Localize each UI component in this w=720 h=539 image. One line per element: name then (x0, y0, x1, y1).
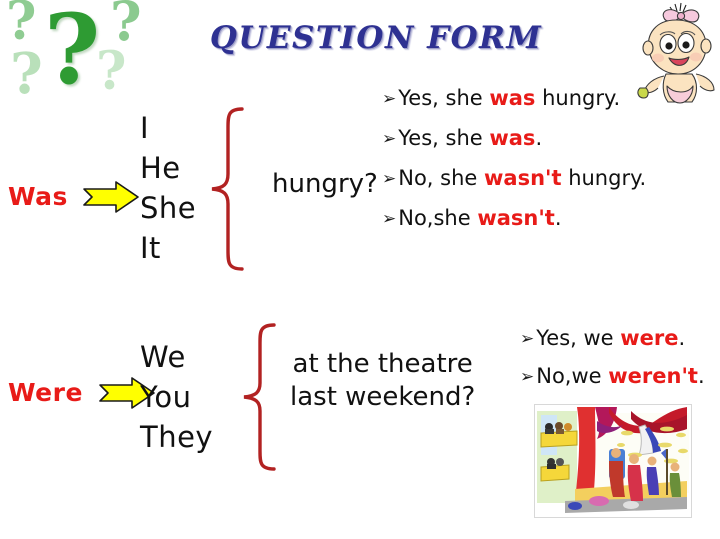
phrase-line: hungry? (272, 168, 378, 201)
question-phrase-singular: hungry? (272, 168, 378, 201)
phrase-line: last weekend? (290, 381, 475, 414)
pronoun-item: I (140, 108, 196, 148)
question-phrase-plural: at the theatre last weekend? (290, 348, 475, 413)
answer-text: No,she wasn't. (398, 206, 561, 230)
curly-brace-icon (238, 322, 284, 476)
arrow-bullet-icon: ➢ (520, 329, 534, 349)
slide-canvas: ? ? ? ? ? QUESTION FORM (0, 0, 720, 539)
curly-brace-icon (206, 106, 252, 276)
page-title: QUESTION FORM (196, 20, 556, 56)
arrow-bullet-icon: ➢ (382, 129, 396, 149)
theatre-clipart (534, 404, 692, 518)
answer-item: ➢ No,we weren't. (520, 364, 705, 388)
answer-text: No, she wasn't hungry. (398, 166, 646, 190)
arrow-bullet-icon: ➢ (382, 209, 396, 229)
answer-text: Yes, we were. (536, 326, 685, 350)
answer-text: Yes, she was. (398, 126, 542, 150)
question-marks-decoration: ? ? ? ? ? (0, 0, 190, 109)
auxiliary-were: Were (8, 378, 83, 407)
answer-item: ➢ No,she wasn't. (382, 206, 646, 230)
answer-item: ➢ No, she wasn't hungry. (382, 166, 646, 190)
arrow-bullet-icon: ➢ (520, 367, 534, 387)
pronoun-item: She (140, 188, 196, 228)
arrow-bullet-icon: ➢ (382, 169, 396, 189)
question-mark-icon: ? (10, 46, 43, 102)
pronoun-list-plural: We You They (140, 337, 213, 457)
question-mark-icon: ? (44, 2, 100, 98)
phrase-line: at the theatre (290, 348, 475, 381)
baby-clipart (636, 2, 716, 110)
answers-list-singular: ➢ Yes, she was hungry. ➢ Yes, she was. ➢… (382, 86, 646, 246)
pronoun-item: We (140, 337, 213, 377)
auxiliary-was: Was (8, 182, 68, 211)
question-mark-icon: ? (96, 46, 126, 98)
pronoun-item: He (140, 148, 196, 188)
answer-item: ➢ Yes, she was. (382, 126, 646, 150)
arrow-bullet-icon: ➢ (382, 89, 396, 109)
answer-text: No,we weren't. (536, 364, 704, 388)
pronoun-item: You (140, 377, 213, 417)
pronoun-item: They (140, 417, 213, 457)
right-arrow-icon (82, 180, 140, 218)
answer-text: Yes, she was hungry. (398, 86, 620, 110)
answers-list-plural: ➢ Yes, we were. ➢ No,we weren't. (520, 326, 705, 402)
answer-item: ➢ Yes, she was hungry. (382, 86, 646, 110)
pronoun-item: It (140, 228, 196, 268)
pronoun-list-singular: I He She It (140, 108, 196, 268)
answer-item: ➢ Yes, we were. (520, 326, 705, 350)
